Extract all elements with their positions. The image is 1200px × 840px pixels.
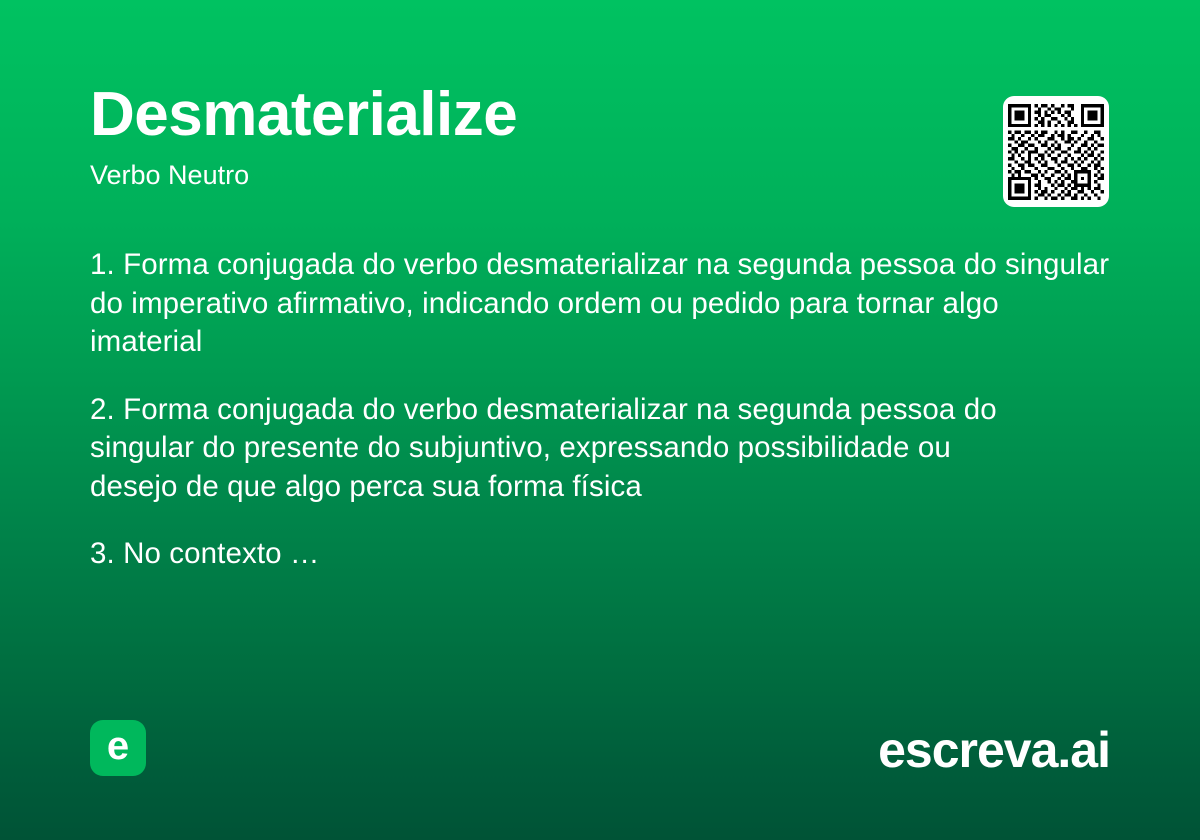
definition-list: 1. Forma conjugada do verbo desmateriali…: [90, 246, 1110, 574]
qr-code-icon: [1008, 104, 1104, 200]
card-footer: e escreva.ai: [90, 720, 1110, 840]
word-class-label: Verbo Neutro: [90, 161, 1110, 191]
brand-wordmark: escreva.ai: [878, 722, 1110, 778]
definition-item: 1. Forma conjugada do verbo desmateriali…: [90, 246, 1110, 362]
definition-item: 2. Forma conjugada do verbo desmateriali…: [90, 391, 1030, 507]
definition-item: 3. No contexto …: [90, 535, 1110, 574]
qr-code-panel[interactable]: [1003, 96, 1109, 207]
brand-logo-badge: e: [90, 720, 146, 776]
page-title: Desmaterialize: [90, 82, 1110, 147]
card-header: Desmaterialize Verbo Neutro: [90, 82, 1110, 191]
brand-logo-letter: e: [107, 726, 129, 766]
dictionary-card: Desmaterialize Verbo Neutro: [0, 0, 1200, 840]
